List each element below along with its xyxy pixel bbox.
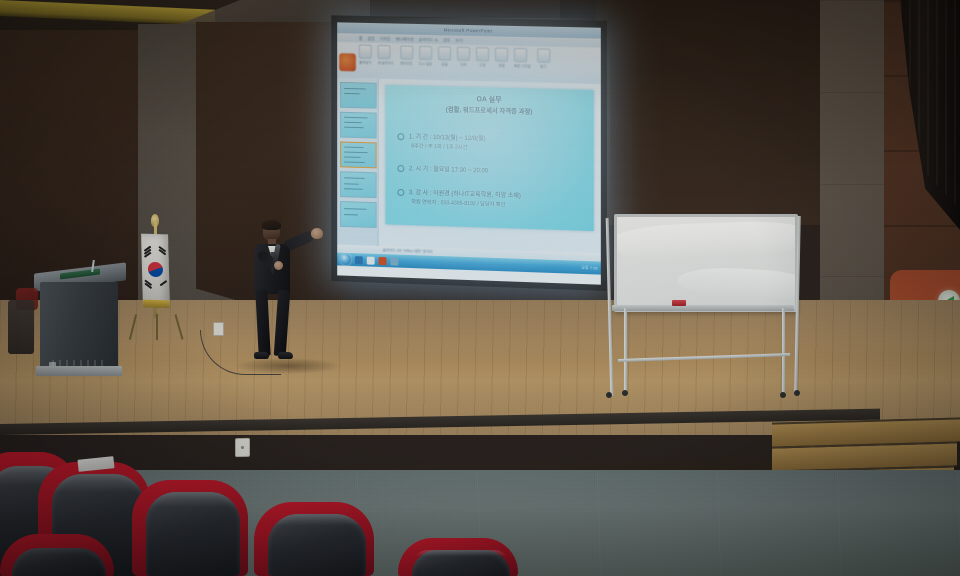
slide-bullet-2-text: 2. 시 기 : 월요일 17:30 ~ 20:00	[409, 166, 488, 174]
whiteboard-caster-inner-right	[780, 392, 786, 398]
slide-thumbnail-3[interactable]	[340, 141, 376, 168]
whiteboard-surface[interactable]	[614, 214, 798, 312]
bullet-marker-icon	[397, 165, 404, 172]
tab-review[interactable]: 검토	[443, 37, 450, 43]
tab-view[interactable]: 보기	[455, 37, 462, 43]
whiteboard-caster-left	[606, 392, 612, 398]
flag-cloth	[141, 234, 170, 309]
explorer-icon[interactable]	[355, 256, 363, 264]
slide-thumbnail-2[interactable]	[340, 112, 376, 139]
whiteboard-marker-tray	[612, 305, 794, 311]
whiteboard[interactable]	[600, 208, 806, 400]
ribbon-arrange-button[interactable]: 정렬	[495, 48, 508, 68]
slide-title-main: OA 실무	[476, 96, 501, 104]
taeguk-symbol-icon	[148, 262, 163, 277]
ppt-ribbon-row: 붙여넣기 새 슬라이드 레이아웃 다시 설정 글꼴	[337, 42, 601, 70]
wall-outlet-left[interactable]	[235, 438, 250, 457]
korean-flag	[128, 222, 188, 342]
slide-title-sub: (컴활, 워드프로세서 자격증 과정)	[409, 104, 569, 118]
whiteboard-eraser[interactable]	[672, 300, 686, 306]
whiteboard-glare-secondary	[676, 265, 798, 302]
browser-icon[interactable]	[367, 256, 375, 264]
start-button-icon[interactable]	[340, 254, 351, 265]
current-slide[interactable]: OA 실무 (컴활, 워드프로세서 자격증 과정) 1. 기 간 : 10/13…	[386, 85, 594, 231]
tab-insert[interactable]: 삽입	[367, 35, 374, 41]
bullet-marker-icon	[397, 189, 404, 196]
slide-bullet-1-text: 1. 기 간 : 10/13(월) ~ 12/8(월)	[409, 134, 486, 142]
tab-design[interactable]: 디자인	[380, 36, 391, 42]
side-equipment	[8, 300, 34, 354]
whiteboard-crossbar	[618, 353, 790, 362]
bullet-marker-icon	[397, 133, 404, 140]
flag-stand-base	[132, 314, 180, 340]
whiteboard-caster-inner-left	[622, 390, 628, 396]
slide-bullet-2: 2. 시 기 : 월요일 17:30 ~ 20:00	[397, 165, 577, 180]
whiteboard-caster-right	[794, 390, 800, 396]
ribbon-reset-button[interactable]: 다시 설정	[419, 46, 432, 66]
slide-bullet-1-sub: 8주간 / 주 1회 / 1주 2시간	[411, 143, 577, 156]
podium-base	[36, 366, 122, 376]
seat-5[interactable]	[398, 538, 524, 576]
slide-bullet-1: 1. 기 간 : 10/13(월) ~ 12/8(월) 8주간 / 주 1회 /…	[397, 133, 577, 155]
flag-bottom-band	[143, 300, 170, 309]
tab-slideshow[interactable]: 슬라이드 쇼	[419, 36, 438, 42]
powerpoint-icon[interactable]	[379, 256, 387, 264]
whiteboard-glare	[614, 219, 798, 260]
auditorium-photo: Microsoft PowerPoint 홈 삽입 디자인 애니메이션 슬라이드…	[0, 0, 960, 576]
slide-bullet-3: 3. 강 사 : 이원경 (하나IT교육학원, 하양 소재) 학원 연락처 : …	[397, 189, 577, 212]
presenter-raised-hand	[311, 228, 323, 239]
slide-thumbnail-1[interactable]	[340, 82, 376, 109]
stage-wall-outlet[interactable]	[213, 322, 224, 336]
slide-thumbnail-4[interactable]	[340, 171, 376, 198]
taskbar-clock[interactable]: 오후 7:32	[581, 264, 597, 271]
ppt-workspace: OA 실무 (컴활, 워드프로세서 자격증 과정) 1. 기 간 : 10/13…	[337, 78, 601, 254]
ribbon-quickstyles-button[interactable]: 빠른 스타일	[514, 48, 531, 68]
podium[interactable]	[38, 268, 122, 380]
ribbon-new-slide-button[interactable]: 새 슬라이드	[378, 45, 394, 65]
slide-editing-area[interactable]: OA 실무 (컴활, 워드프로세서 자격증 과정) 1. 기 간 : 10/13…	[379, 79, 601, 254]
ribbon-font-button[interactable]: 글꼴	[438, 46, 451, 66]
seat-3[interactable]	[132, 480, 254, 576]
ribbon-shapes-button[interactable]: 도형	[476, 47, 489, 67]
ribbon-paragraph-button[interactable]: 단락	[457, 47, 470, 67]
slide-bullet-3-sub: 학원 연락처 : 010-4395-8192 / 담당자 확인	[411, 199, 577, 212]
office-button-icon[interactable]	[339, 53, 356, 71]
projection-screen[interactable]: Microsoft PowerPoint 홈 삽입 디자인 애니메이션 슬라이드…	[337, 22, 601, 284]
presenter-mic-hand	[274, 261, 283, 270]
seat-4[interactable]	[254, 502, 380, 576]
media-icon[interactable]	[390, 257, 398, 265]
podium-body	[40, 282, 118, 368]
ribbon-paste-button[interactable]: 붙여넣기	[359, 45, 372, 65]
tab-animation[interactable]: 애니메이션	[396, 36, 414, 42]
slide-thumbnail-pane[interactable]	[337, 78, 378, 246]
seat-6[interactable]	[0, 534, 120, 576]
presenter-hair	[262, 220, 281, 230]
whiteboard-leg-inner-right	[782, 308, 785, 394]
whiteboard-leg-inner-left	[624, 308, 627, 392]
ribbon-layout-button[interactable]: 레이아웃	[400, 46, 413, 66]
slide-thumbnail-5[interactable]	[340, 201, 376, 228]
tab-home[interactable]: 홈	[359, 35, 363, 41]
slide-title: OA 실무 (컴활, 워드프로세서 자격증 과정)	[409, 94, 569, 118]
ribbon-find-button[interactable]: 찾기	[537, 48, 550, 68]
